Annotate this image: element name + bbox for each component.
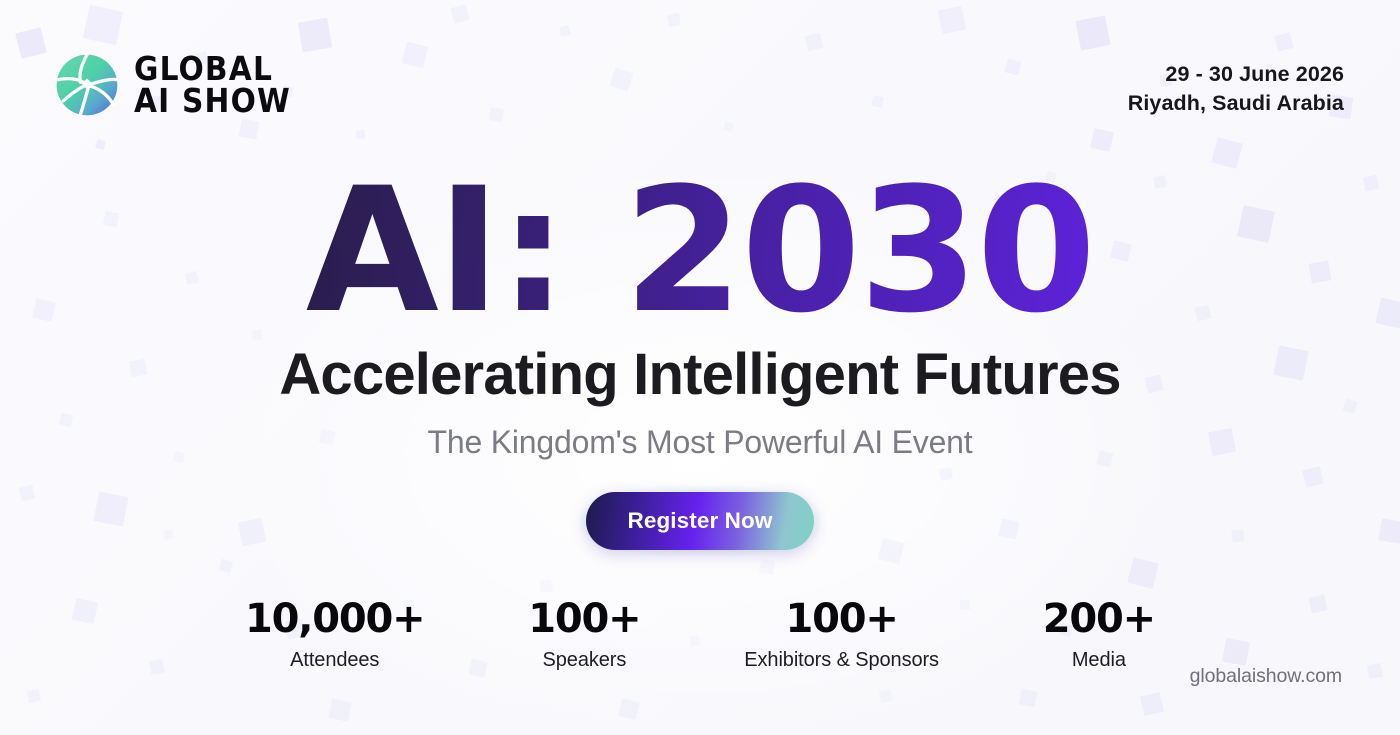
stat-label: Attendees: [245, 649, 424, 672]
decorative-square: [328, 698, 351, 721]
decorative-square: [610, 68, 634, 92]
decorative-square: [1302, 466, 1324, 488]
cta-container: Register Now: [0, 486, 1400, 556]
decorative-square: [1090, 128, 1114, 152]
stats-row: 10,000+ Attendees 100+ Speakers 100+ Exh…: [245, 598, 1155, 672]
event-dates: 29 - 30 June 2026: [1128, 60, 1344, 89]
decorative-square: [149, 659, 165, 675]
hero-tagline: The Kingdom's Most Powerful AI Event: [0, 424, 1400, 461]
decorative-square: [298, 18, 333, 53]
decorative-square: [219, 559, 234, 574]
stat-item: 200+ Media: [1043, 598, 1155, 672]
decorative-square: [1075, 15, 1110, 50]
decorative-square: [939, 467, 953, 481]
stat-item: 100+ Speakers: [528, 598, 640, 672]
decorative-square: [879, 689, 894, 704]
decorative-square: [871, 95, 884, 108]
page-title: AI: 2030: [0, 168, 1400, 335]
decorative-square: [1222, 638, 1250, 666]
decorative-square: [239, 119, 260, 140]
decorative-square: [559, 25, 571, 37]
website-url[interactable]: globalaishow.com: [1190, 665, 1342, 688]
decorative-square: [1019, 689, 1038, 708]
event-location: Riyadh, Saudi Arabia: [1128, 89, 1344, 118]
globe-sphere-icon: [54, 52, 120, 118]
decorative-square: [72, 598, 98, 624]
decorative-square: [489, 107, 504, 122]
decorative-square: [1274, 32, 1294, 52]
decorative-square: [759, 559, 775, 575]
hero-section: AI: 2030 Accelerating Intelligent Future…: [0, 168, 1400, 461]
decorative-square: [1211, 137, 1243, 169]
hero-subheadline: Accelerating Intelligent Futures: [0, 341, 1400, 408]
stat-label: Speakers: [528, 649, 640, 672]
decorative-square: [539, 579, 553, 593]
decorative-square: [402, 42, 429, 69]
event-date-location: 29 - 30 June 2026 Riyadh, Saudi Arabia: [1128, 60, 1344, 118]
register-now-button[interactable]: Register Now: [586, 492, 815, 550]
decorative-square: [1367, 663, 1383, 679]
cta-glow-halo: Register Now: [580, 486, 821, 556]
stat-label: Media: [1043, 649, 1155, 672]
decorative-square: [804, 32, 823, 51]
decorative-square: [667, 13, 681, 27]
decorative-square: [1004, 58, 1021, 75]
decorative-square: [83, 5, 123, 45]
stat-item: 100+ Exhibitors & Sponsors: [744, 598, 939, 672]
decorative-square: [1127, 557, 1159, 589]
stat-value: 100+: [528, 598, 640, 640]
stat-value: 10,000+: [245, 598, 424, 640]
decorative-square: [1309, 595, 1328, 614]
decorative-square: [95, 139, 106, 150]
decorative-square: [27, 689, 41, 703]
decorative-square: [450, 4, 470, 24]
decorative-square: [1140, 692, 1164, 716]
brand-wordmark: GLOBAL AI SHOW: [134, 53, 291, 118]
decorative-square: [618, 698, 640, 720]
event-banner: GLOBAL AI SHOW 29 - 30 June 2026 Riyadh,…: [0, 0, 1400, 735]
decorative-square: [723, 121, 734, 132]
stat-item: 10,000+ Attendees: [245, 598, 424, 672]
stat-value: 200+: [1043, 598, 1155, 640]
wordmark-line-2: AI SHOW: [134, 85, 291, 117]
decorative-square: [938, 6, 966, 34]
brand-logo[interactable]: GLOBAL AI SHOW: [54, 52, 291, 118]
decorative-square: [356, 130, 366, 140]
decorative-square: [15, 27, 47, 59]
stat-value: 100+: [744, 598, 939, 640]
stat-label: Exhibitors & Sponsors: [744, 649, 939, 672]
